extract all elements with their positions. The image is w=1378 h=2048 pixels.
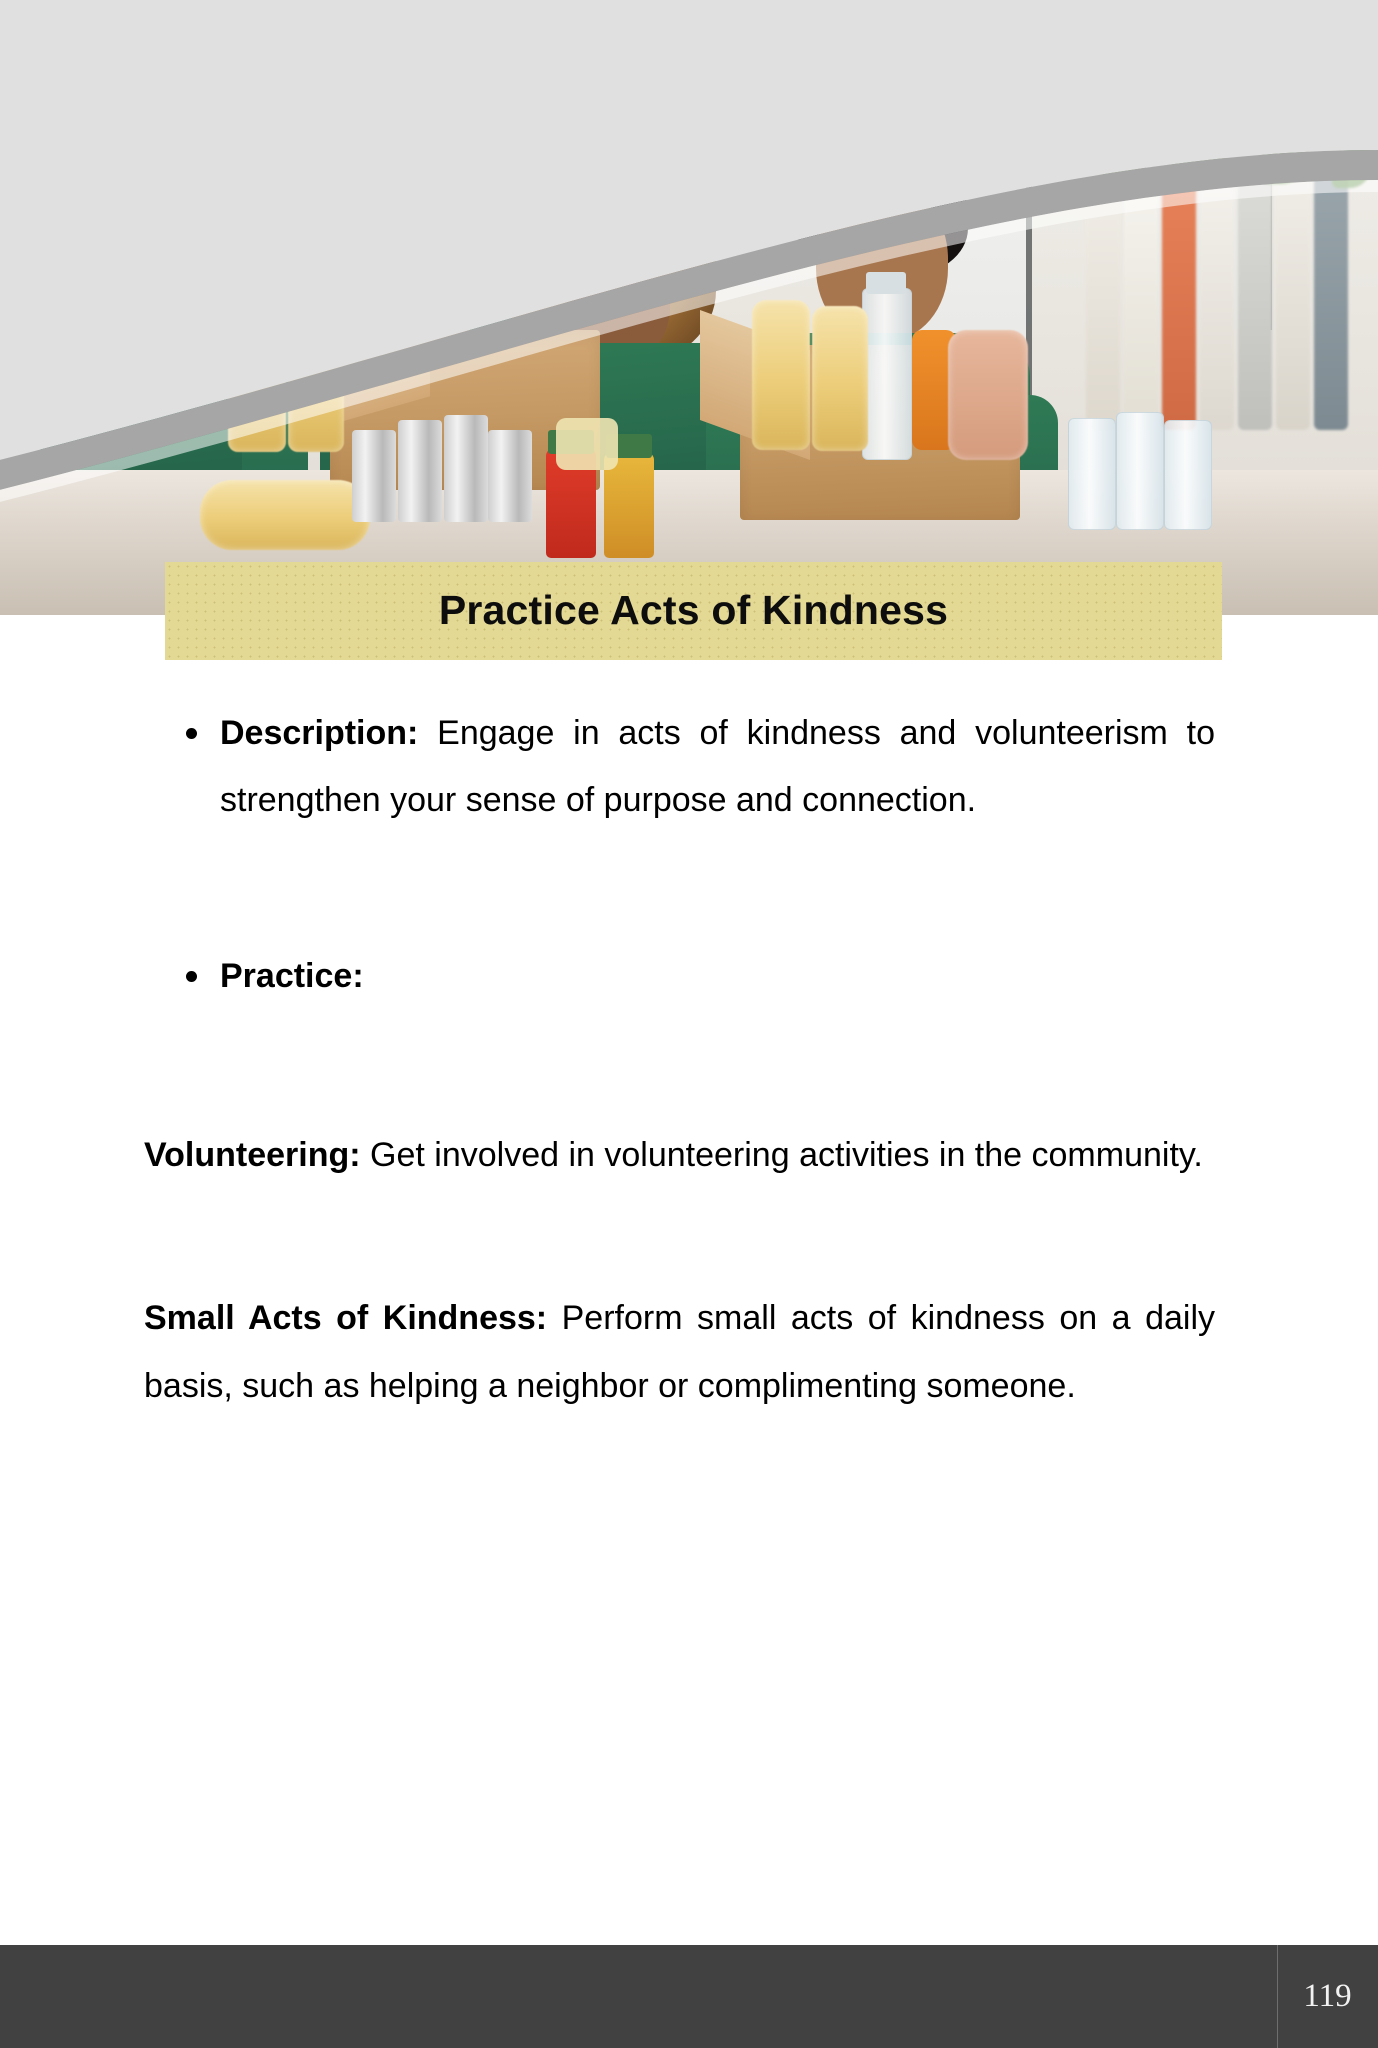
food-can-icon bbox=[444, 415, 488, 522]
practice-paragraph: Practice: bbox=[220, 943, 1215, 1010]
footer-bar: 119 bbox=[0, 1945, 1378, 2048]
hero-banner bbox=[0, 0, 1378, 615]
practice-lead: Practice: bbox=[220, 957, 364, 995]
description-paragraph: Description: Engage in acts of kindness … bbox=[220, 700, 1215, 835]
spacer bbox=[0, 835, 1378, 943]
food-can-icon bbox=[398, 420, 442, 522]
water-bottle-icon bbox=[862, 288, 912, 460]
pasta-bag-icon bbox=[238, 282, 290, 342]
spacer bbox=[0, 1189, 1378, 1285]
bullet-item-description: Description: Engage in acts of kindness … bbox=[0, 700, 1378, 835]
volunteering-lead: Volunteering: bbox=[144, 1136, 361, 1174]
pasta-bag-icon bbox=[288, 300, 344, 452]
jar-icon bbox=[556, 418, 618, 470]
volunteering-paragraph: Volunteering: Get involved in volunteeri… bbox=[144, 1122, 1215, 1189]
food-can-icon bbox=[488, 430, 532, 522]
description-lead: Description: bbox=[220, 714, 418, 752]
bullet-item-practice: Practice: bbox=[0, 943, 1378, 1010]
bullet-dot-icon bbox=[186, 971, 197, 982]
bullet-dot-icon bbox=[186, 728, 197, 739]
paragraph-volunteering: Volunteering: Get involved in volunteeri… bbox=[0, 1122, 1378, 1189]
water-bottle-icon bbox=[1068, 418, 1116, 530]
page-number: 119 bbox=[1277, 1945, 1378, 2048]
slide: Practice Acts of Kindness Description: E… bbox=[0, 0, 1378, 2048]
pasta-bag-icon bbox=[752, 300, 810, 450]
small-acts-paragraph: Small Acts of Kindness: Perform small ac… bbox=[144, 1285, 1215, 1420]
pasta-bag-icon bbox=[200, 480, 370, 550]
pasta-bag-icon bbox=[812, 306, 868, 451]
water-bottle-icon bbox=[1164, 420, 1212, 530]
pasta-bag-icon bbox=[948, 330, 1028, 460]
content-area: Description: Engage in acts of kindness … bbox=[0, 700, 1378, 1420]
volunteers-photo bbox=[0, 0, 1378, 615]
paragraph-small-acts: Small Acts of Kindness: Perform small ac… bbox=[0, 1285, 1378, 1420]
food-can-icon bbox=[352, 430, 396, 522]
title-banner: Practice Acts of Kindness bbox=[165, 562, 1222, 660]
volunteering-text: Get involved in volunteering activities … bbox=[361, 1136, 1203, 1174]
water-bottle-icon bbox=[1116, 412, 1164, 530]
spacer bbox=[0, 1010, 1378, 1122]
small-acts-lead: Small Acts of Kindness: bbox=[144, 1299, 547, 1337]
page-title: Practice Acts of Kindness bbox=[439, 588, 948, 633]
